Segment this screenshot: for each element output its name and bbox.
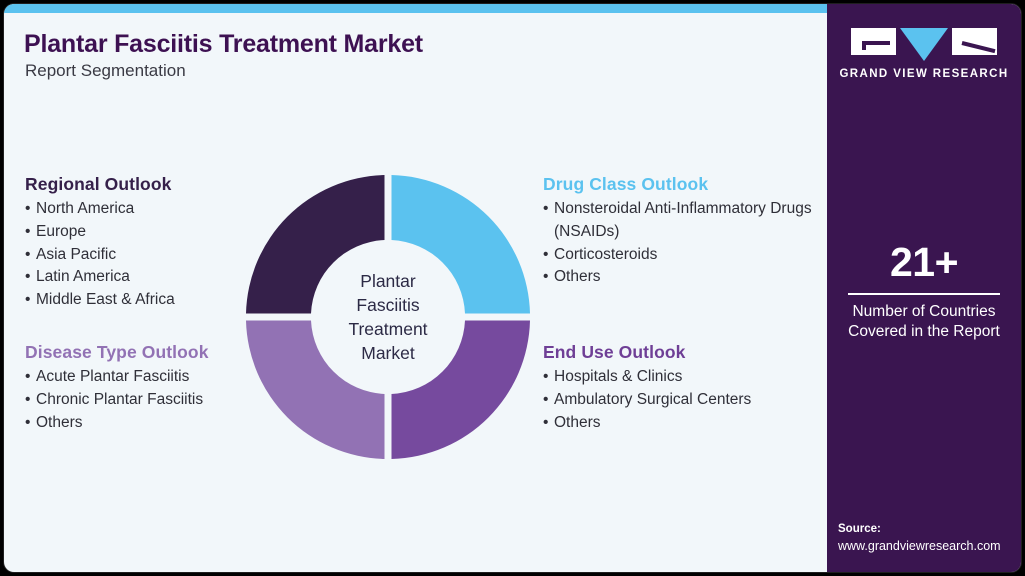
list-item: Middle East & Africa <box>25 289 275 312</box>
brand-logo: GRAND VIEW RESEARCH <box>827 28 1021 80</box>
list-item: Others <box>543 412 828 435</box>
main-card: Plantar Fasciitis Treatment Market Repor… <box>4 4 1021 572</box>
donut-segment-drug-class <box>392 175 531 314</box>
regional-outlook-heading: Regional Outlook <box>25 174 275 195</box>
list-item: Others <box>543 266 828 289</box>
logo-wordmark: GRAND VIEW RESEARCH <box>827 68 1021 80</box>
gvr-logo-g-icon <box>851 28 896 55</box>
logo-marks <box>827 28 1021 61</box>
disease-type-outlook-heading: Disease Type Outlook <box>25 342 275 363</box>
page-subtitle: Report Segmentation <box>25 61 186 81</box>
country-count-stat: 21+ Number of Countries Covered in the R… <box>827 240 1021 342</box>
source-label: Source: <box>838 521 1021 537</box>
outlook-block-disease-type: Disease Type Outlook Acute Plantar Fasci… <box>25 342 275 434</box>
list-item: Chronic Plantar Fasciitis <box>25 389 275 412</box>
list-item: Ambulatory Surgical Centers <box>543 389 828 412</box>
end-use-outlook-list: Hospitals & Clinics Ambulatory Surgical … <box>543 366 828 434</box>
drug-class-outlook-list: Nonsteroidal Anti-Inflammatory Drugs (NS… <box>543 198 828 289</box>
donut-segment-disease-type <box>246 321 385 460</box>
end-use-outlook-heading: End Use Outlook <box>543 342 828 363</box>
gvr-logo-v-triangle-icon <box>900 28 948 61</box>
stat-label-line: Covered in the Report <box>827 322 1021 342</box>
list-item: Europe <box>25 221 275 244</box>
disease-type-outlook-list: Acute Plantar Fasciitis Chronic Plantar … <box>25 366 275 434</box>
list-item: Asia Pacific <box>25 244 275 267</box>
regional-outlook-list: North America Europe Asia Pacific Latin … <box>25 198 275 312</box>
donut-svg <box>243 172 533 462</box>
page-title: Plantar Fasciitis Treatment Market <box>24 30 423 59</box>
stat-label-line: Number of Countries <box>827 302 1021 322</box>
list-item: North America <box>25 198 275 221</box>
stat-divider <box>848 293 1000 295</box>
segmentation-donut-chart: Plantar Fasciitis Treatment Market <box>243 172 533 462</box>
list-item: Latin America <box>25 266 275 289</box>
outlook-block-regional: Regional Outlook North America Europe As… <box>25 174 275 312</box>
source-url[interactable]: www.grandviewresearch.com <box>838 537 1021 555</box>
drug-class-outlook-heading: Drug Class Outlook <box>543 174 828 195</box>
list-item: Acute Plantar Fasciitis <box>25 366 275 389</box>
outlook-block-end-use: End Use Outlook Hospitals & Clinics Ambu… <box>543 342 828 434</box>
list-item: Nonsteroidal Anti-Inflammatory Drugs (NS… <box>543 198 828 244</box>
gvr-logo-r-icon <box>952 28 997 55</box>
top-accent-bar <box>4 4 827 13</box>
stat-value: 21+ <box>827 240 1021 284</box>
stat-label: Number of Countries Covered in the Repor… <box>827 302 1021 342</box>
donut-segment-regional <box>246 175 385 314</box>
sidebar-panel: GRAND VIEW RESEARCH 21+ Number of Countr… <box>827 4 1021 572</box>
infographic-poster: Plantar Fasciitis Treatment Market Repor… <box>0 0 1025 576</box>
list-item: Others <box>25 412 275 435</box>
list-item: Corticosteroids <box>543 244 828 267</box>
donut-segment-end-use <box>392 321 531 460</box>
list-item: Hospitals & Clinics <box>543 366 828 389</box>
outlook-block-drug-class: Drug Class Outlook Nonsteroidal Anti-Inf… <box>543 174 828 289</box>
source-block: Source: www.grandviewresearch.com <box>838 521 1021 555</box>
